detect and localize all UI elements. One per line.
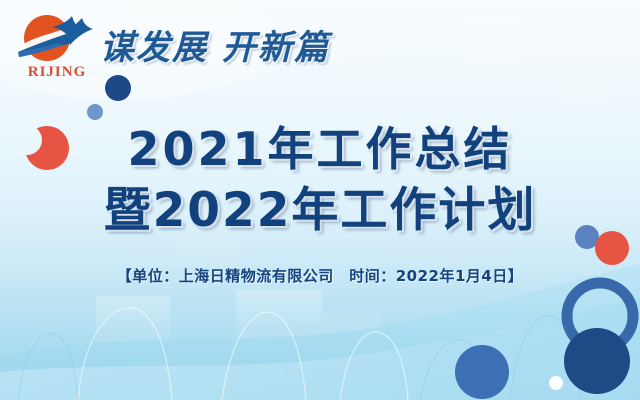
title-line-2: 暨2022年工作计划 [0, 180, 640, 242]
rijing-sun-crane-logo-icon [14, 12, 100, 66]
blue-ring-right [567, 283, 633, 349]
blue-dot-bottom [455, 345, 509, 399]
logo-wordmark: RIJING [14, 64, 100, 80]
wave-lines-faint [18, 315, 580, 400]
presentation-cover-slide: RIJING 谋发展 开新篇 2021年工作总结 暨2022年工作计划 【单位：… [0, 0, 640, 400]
wave-band-upper [0, 298, 640, 400]
company-logo: RIJING [14, 12, 100, 84]
subtitle-company-and-date: 【单位：上海日精物流有限公司 时间：2022年1月4日】 [0, 265, 640, 286]
white-dot-bottom [549, 376, 563, 390]
navy-dot-bottom-right [564, 328, 630, 394]
navy-dot-top-left [105, 75, 131, 101]
slide-tagline: 谋发展 开新篇 [100, 20, 330, 69]
main-title: 2021年工作总结 暨2022年工作计划 [0, 118, 640, 242]
wave-lines [78, 308, 408, 400]
title-line-1: 2021年工作总结 [0, 118, 640, 180]
